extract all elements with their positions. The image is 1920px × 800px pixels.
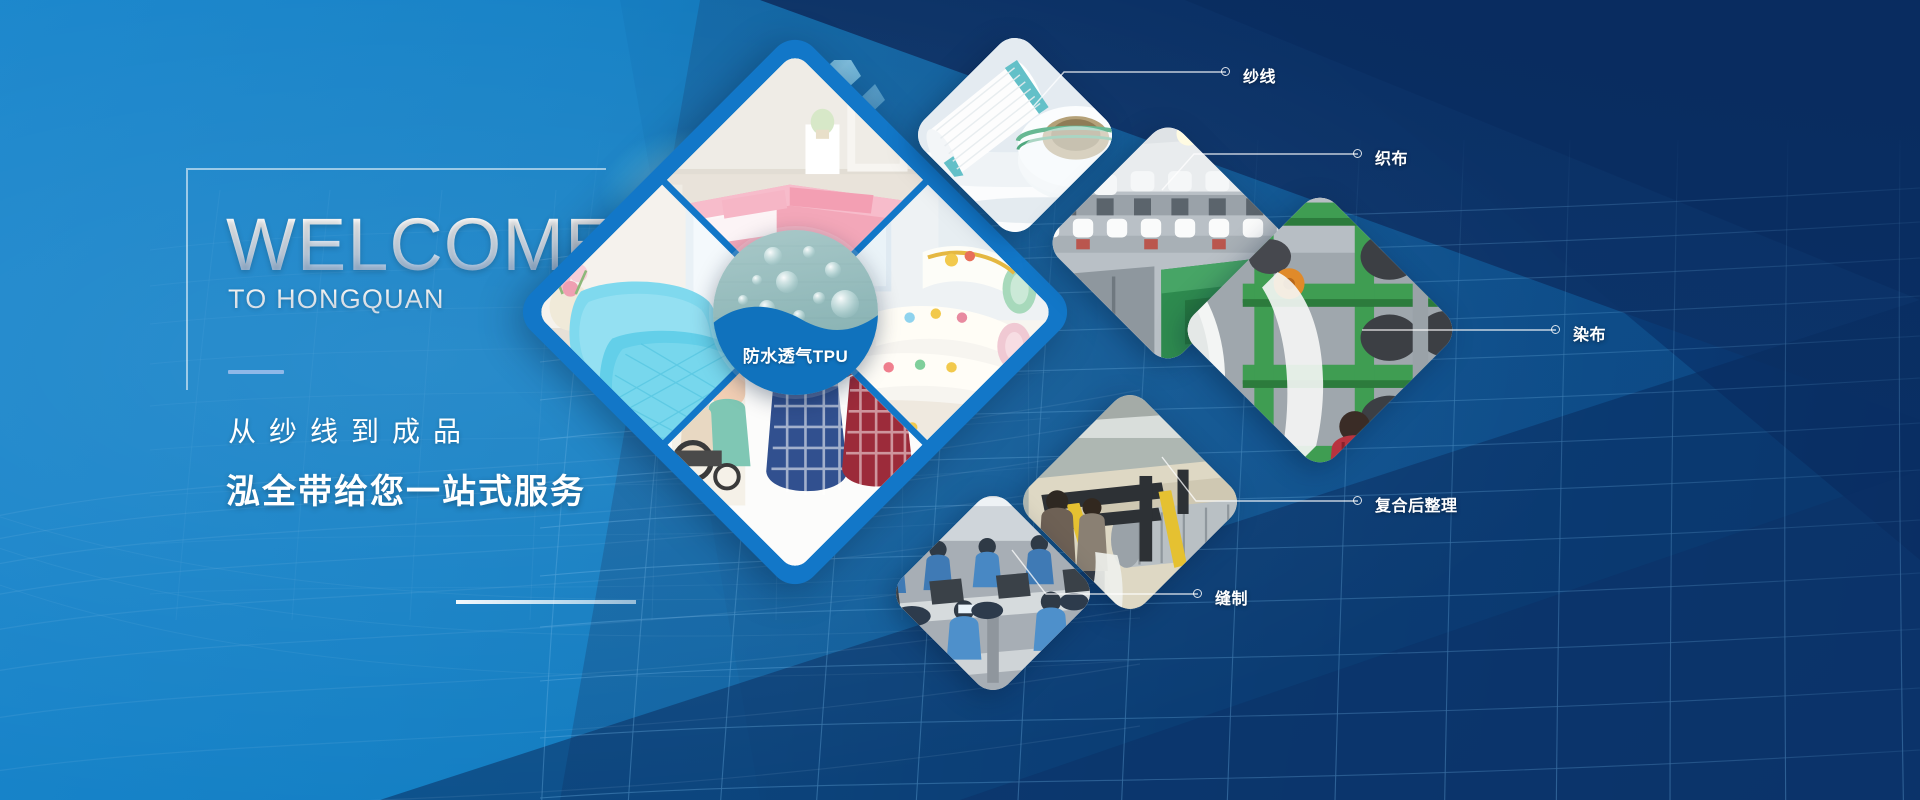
dyeing-leader-dot (1551, 325, 1560, 334)
tagline-thin: 从纱线到成品 (228, 410, 474, 450)
process-label-dyeing: 染布 (1573, 321, 1606, 345)
process-label-yarn: 纱线 (1243, 63, 1276, 87)
center-product-diamond: 防水透气TPU (595, 112, 995, 512)
bottom-divider-rule (456, 600, 636, 604)
weaving-leader-dot (1353, 149, 1362, 158)
accent-divider (228, 370, 284, 374)
banner-hero: WELCOME TO HONGQUAN 从纱线到成品 泓全带给您一站式服务 (0, 0, 1920, 800)
process-label-laminating: 复合后整理 (1375, 492, 1458, 516)
process-label-sewing: 缝制 (1215, 585, 1248, 609)
tpu-feature-badge: 防水透气TPU (713, 230, 878, 395)
process-label-weaving: 织布 (1375, 145, 1408, 169)
page-subtitle: TO HONGQUAN (228, 284, 445, 315)
sewing-leader-dot (1193, 589, 1202, 598)
yarn-leader-dot (1221, 67, 1230, 76)
tagline-bold: 泓全带给您一站式服务 (226, 464, 586, 513)
tpu-badge-label: 防水透气TPU (713, 342, 878, 367)
laminating-leader-dot (1353, 496, 1362, 505)
